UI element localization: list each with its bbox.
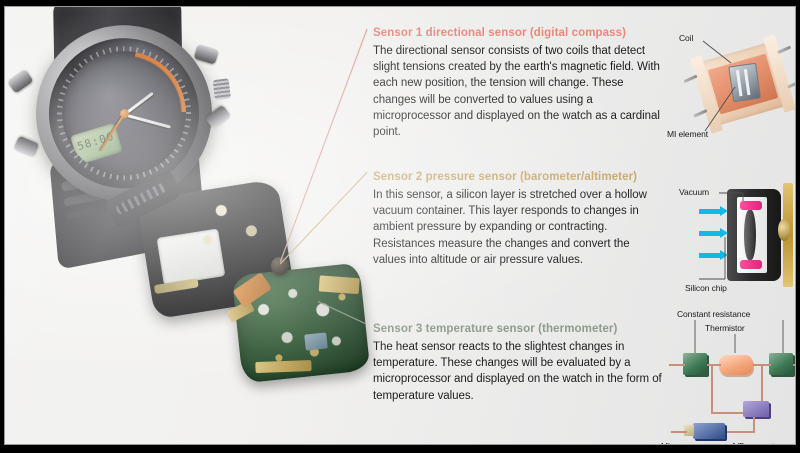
label-microprocessor: Microprocessor <box>661 441 718 445</box>
sensor-1-body: The directional sensor consists of two c… <box>373 43 665 140</box>
diagram-page: 58:00 <box>4 6 796 445</box>
constant-resistance-right <box>769 353 793 375</box>
pcb-gold-pad-top <box>319 275 360 294</box>
sensor-3-body: The heat sensor reacts to the slightest … <box>373 339 665 404</box>
constant-resistance-left <box>683 353 707 375</box>
sensor-text-column: Sensor 1 directional sensor (digital com… <box>373 7 673 444</box>
sensor-block-2: Sensor 2 pressure sensor (barometer/alti… <box>373 170 665 268</box>
wire-to-adc-left <box>711 412 743 414</box>
pressure-label-leaders <box>669 179 796 299</box>
wire-mpu-bus <box>721 431 755 433</box>
watch-pusher-bottom-left <box>13 136 39 158</box>
product-photo-area: 58:00 <box>5 7 375 444</box>
sensor-2-body: In this sensor, a silicon layer is stret… <box>373 187 665 268</box>
screenshot-root: 58:00 <box>0 0 800 453</box>
sensor-block-3: Sensor 3 temperature sensor (thermometer… <box>373 322 665 404</box>
label-silicon-chip: Silicon chip <box>685 283 727 293</box>
wire-mpu-out <box>671 431 687 433</box>
watch-crown <box>213 78 231 100</box>
watch-pusher-top-left <box>7 69 34 94</box>
pcb-gold-pad-bottom <box>255 360 311 373</box>
module-internal-parts <box>188 194 266 258</box>
label-mi-element: MI element <box>667 129 708 139</box>
label-coil: Coil <box>679 33 693 43</box>
diagram-pressure: Vacuum Silicon chip <box>669 179 796 299</box>
sensor-2-title: Sensor 2 pressure sensor (barometer/alti… <box>373 170 665 184</box>
ad-converter-component <box>743 401 769 417</box>
watch-pusher-top-right <box>194 44 219 65</box>
wire-in-right <box>793 364 796 366</box>
wire-in-left <box>669 364 685 366</box>
wire-down-left <box>711 364 713 412</box>
diagram-coil: Coil MI element <box>669 25 796 151</box>
watch-dial: 58:00 <box>55 44 193 182</box>
microprocessor-component <box>693 423 725 439</box>
hand-center-cap <box>119 108 129 118</box>
diagram-thermistor: Constant resistance Thermistor <box>665 307 796 445</box>
sensor-block-1: Sensor 1 directional sensor (digital com… <box>373 26 665 140</box>
pcb-chip <box>304 332 328 350</box>
wire-adc-to-mpu <box>753 417 755 431</box>
label-vacuum: Vacuum <box>679 187 709 197</box>
circuit-board-photo <box>232 263 371 384</box>
thermistor-component <box>719 355 753 375</box>
sensor-3-title: Sensor 3 temperature sensor (thermometer… <box>373 322 665 336</box>
label-ad-converter: A/D converter <box>731 441 782 445</box>
sensor-1-title: Sensor 1 directional sensor (digital com… <box>373 26 665 40</box>
wire-mid-left <box>707 364 721 366</box>
